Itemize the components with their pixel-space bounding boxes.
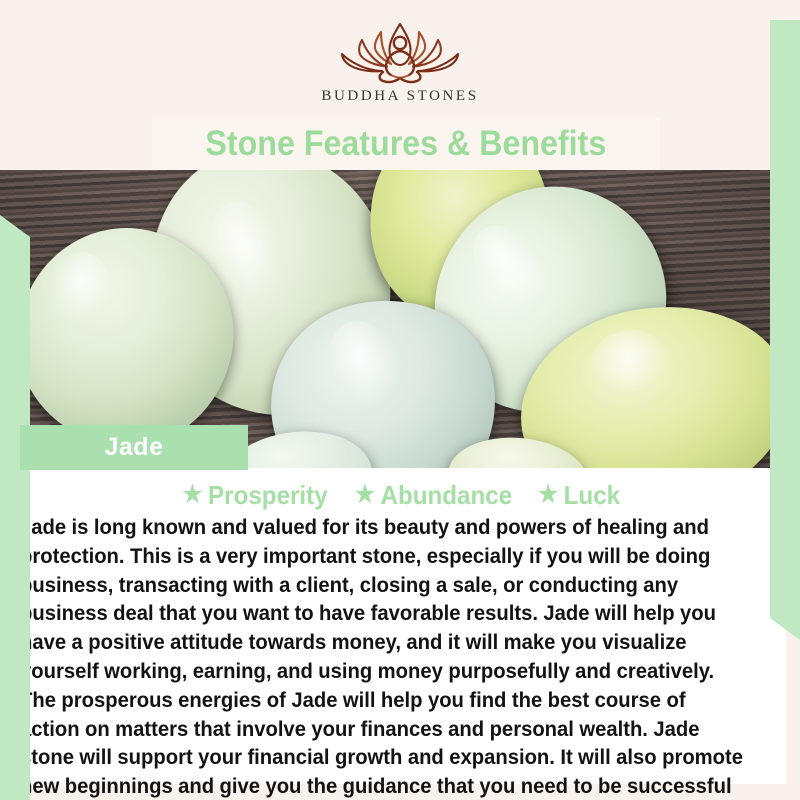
keyword-luck: ★ Luck bbox=[538, 480, 620, 511]
content-panel: ★ Prosperity ★ Abundance ★ Luck Jade is … bbox=[14, 468, 786, 784]
stone-name-label: Jade bbox=[105, 433, 164, 462]
keyword-label: Luck bbox=[563, 480, 619, 511]
lotus-meditation-icon bbox=[334, 18, 466, 84]
keyword-prosperity: ★ Prosperity bbox=[183, 480, 328, 511]
brand-header: BUDDHA STONES bbox=[0, 0, 800, 118]
brand-name: BUDDHA STONES bbox=[250, 88, 550, 105]
star-icon: ★ bbox=[355, 483, 375, 507]
stone-name-chip: Jade bbox=[20, 425, 248, 470]
page-title: Stone Features & Benefits bbox=[206, 124, 607, 164]
keyword-abundance: ★ Abundance bbox=[355, 480, 512, 511]
star-icon: ★ bbox=[538, 483, 558, 507]
keyword-list: ★ Prosperity ★ Abundance ★ Luck bbox=[14, 468, 786, 512]
infographic-card: BUDDHA STONES Stone Features & Benefits bbox=[0, 0, 800, 800]
hero-stone-photo bbox=[0, 170, 800, 468]
keyword-label: Prosperity bbox=[208, 480, 328, 511]
decorative-green-bar-right bbox=[770, 20, 800, 640]
star-icon: ★ bbox=[183, 483, 203, 507]
keyword-label: Abundance bbox=[381, 480, 513, 511]
decorative-green-bar-left bbox=[0, 215, 30, 800]
stone-description: Jade is long known and valued for its be… bbox=[20, 514, 746, 800]
title-banner: Stone Features & Benefits bbox=[152, 118, 660, 170]
brand-logo: BUDDHA STONES bbox=[250, 18, 550, 105]
